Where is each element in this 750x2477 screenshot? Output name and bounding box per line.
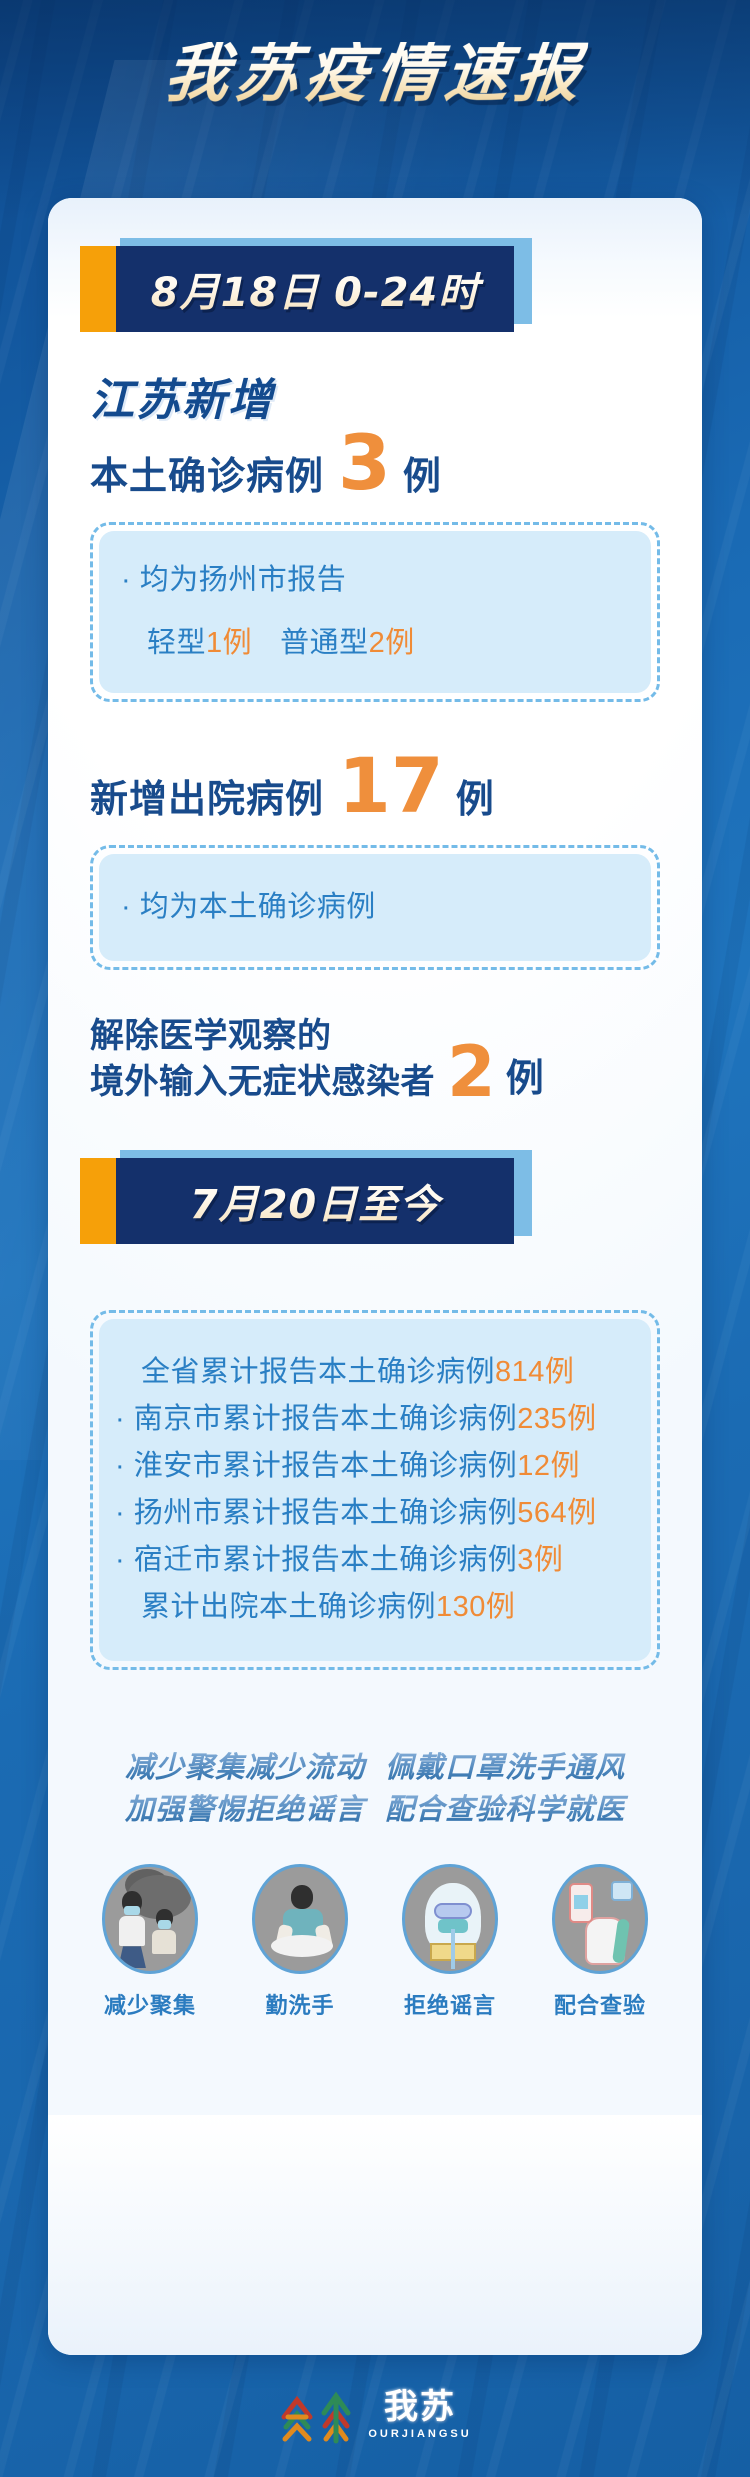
cumulative-list-item: · 南京市累计报告本土确诊病例235例 [115,1396,635,1443]
wosu-logo-mark-icon [278,2383,356,2447]
wash-hands-icon [252,1864,348,1974]
mild-type-label: 轻型 [147,627,206,659]
bullet-dot: · [115,1403,134,1435]
cumulative-item-value: 814例 [495,1356,574,1388]
slogan-1-right: 佩戴口罩洗手通风 [385,1750,625,1784]
cumulative-list-item: 累计出院本土确诊病例130例 [115,1584,635,1631]
reject-rumors-icon [402,1864,498,1974]
cumulative-item-text: 宿迁市累计报告本土确诊病例 [134,1544,518,1576]
cumulative-item-value: 235例 [517,1403,596,1435]
section-new-local-cases: 江苏新增 本土确诊病例 3 例 · 均为扬州市报告 轻型1例普通型2例 [48,332,702,702]
banner-2-orange-tab [80,1158,116,1244]
cumulative-item-text: 扬州市累计报告本土确诊病例 [134,1497,518,1529]
report-card: 8月18日 0-24时 江苏新增 本土确诊病例 3 例 · 均为扬州市报告 轻型… [48,198,702,2355]
cumulative-list-item: 全省累计报告本土确诊病例814例 [115,1349,635,1396]
cumulative-list: 全省累计报告本土确诊病例814例· 南京市累计报告本土确诊病例235例· 淮安市… [115,1349,635,1631]
cumulative-item-value: 564例 [517,1497,596,1529]
section-3-line-a: 解除医学观察的 [90,1014,435,1060]
report-card-inner: 8月18日 0-24时 江苏新增 本土确诊病例 3 例 · 均为扬州市报告 轻型… [48,198,702,2355]
bullet-dot: · [121,891,131,923]
page-title-wrap: 我苏疫情速报 [0,42,750,106]
section-1-stat-label: 本土确诊病例 [90,445,324,500]
cumulative-item-text: 淮安市累计报告本土确诊病例 [134,1450,518,1482]
slogan-2-right: 配合查验科学就医 [385,1792,625,1826]
date-banner-2: 7月20日至今 [80,1158,532,1244]
cumulative-item-value: 130例 [436,1591,515,1623]
icon-label-wash-hands: 勤洗手 [242,1988,358,2020]
section-3-stat-unit: 例 [506,1047,544,1106]
section-2-details-inner: · 均为本土确诊病例 [99,854,651,961]
section-2-details-box: · 均为本土确诊病例 [90,845,660,970]
section-released-observation: 解除医学观察的 境外输入无症状感染者 2 例 [48,970,702,1106]
section-3-text-block: 解除医学观察的 境外输入无症状感染者 [90,1014,435,1106]
section-2-stat-unit: 例 [456,768,494,823]
section-3-line-b: 境外输入无症状感染者 [90,1060,435,1106]
footer-logo-en: OURJIANGSU [368,2428,471,2440]
section-1-detail-line-1: · 均为扬州市报告 [121,557,629,604]
cumulative-item-text: 南京市累计报告本土确诊病例 [134,1403,518,1435]
cumulative-item-text: 全省累计报告本土确诊病例 [141,1356,495,1388]
section-1-details-inner: · 均为扬州市报告 轻型1例普通型2例 [99,531,651,693]
reduce-gathering-icon [102,1864,198,1974]
section-2-detail-line-1: · 均为本土确诊病例 [121,884,629,931]
banner-1-orange-tab [80,246,116,332]
prevention-item-wash-hands: 勤洗手 [242,1864,358,2020]
section-1-stat-line: 本土确诊病例 3 例 [90,429,660,500]
section-3-stat-line: 解除医学观察的 境外输入无症状感染者 2 例 [90,1014,660,1106]
footer-logo-text: 我苏 OURJIANGSU [368,2390,471,2440]
section-2-stat-number: 17 [328,752,452,820]
section-1-stat-number: 3 [328,429,399,497]
common-type-label: 普通型 [280,627,369,659]
prevention-item-reduce-gathering: 减少聚集 [92,1864,208,2020]
section-1-details-box: · 均为扬州市报告 轻型1例普通型2例 [90,522,660,702]
banner-2-label: 7月20日至今 [116,1158,514,1244]
mild-type-value: 1例 [206,627,252,659]
cumulative-list-item: · 扬州市累计报告本土确诊病例564例 [115,1490,635,1537]
bullet-dot: · [115,1544,134,1576]
section-1-detail-line-2: 轻型1例普通型2例 [121,620,629,667]
bullet-dot: · [121,564,131,596]
cumulative-details-inner: 全省累计报告本土确诊病例814例· 南京市累计报告本土确诊病例235例· 淮安市… [99,1319,651,1661]
banner-1-label: 8月18日 0-24时 [116,246,514,332]
cumulative-item-text: 累计出院本土确诊病例 [141,1591,436,1623]
cumulative-item-value: 3例 [517,1544,563,1576]
slogan-row-1: 减少聚集减少流动佩戴口罩洗手通风 [48,1746,702,1788]
slogan-row-2: 加强警惕拒绝谣言配合查验科学就医 [48,1788,702,1830]
footer-logo-cn: 我苏 [384,2390,456,2424]
date-banner-1: 8月18日 0-24时 [80,246,532,332]
section-2-stat-label: 新增出院病例 [90,768,324,823]
cumulative-item-value: 12例 [517,1450,580,1482]
slogan-block: 减少聚集减少流动佩戴口罩洗手通风 加强警惕拒绝谣言配合查验科学就医 [48,1746,702,1831]
cumulative-details-box: 全省累计报告本土确诊病例814例· 南京市累计报告本土确诊病例235例· 淮安市… [90,1310,660,1670]
icon-label-reject-rumors: 拒绝谣言 [392,1988,508,2020]
bullet-dot: · [115,1450,134,1482]
bullet-dot: · [115,1497,134,1529]
prevention-icon-row: 减少聚集 勤洗手 [48,1864,702,2020]
cooperate-inspection-icon [552,1864,648,1974]
page-title: 我苏疫情速报 [162,42,589,106]
section-cumulative-stats: 全省累计报告本土确诊病例814例· 南京市累计报告本土确诊病例235例· 淮安市… [48,1244,702,1670]
slogan-1-left: 减少聚集减少流动 [125,1750,365,1784]
cumulative-list-item: · 宿迁市累计报告本土确诊病例3例 [115,1537,635,1584]
prevention-item-cooperate-inspection: 配合查验 [542,1864,658,2020]
cumulative-list-item: · 淮安市累计报告本土确诊病例12例 [115,1443,635,1490]
icon-label-reduce-gathering: 减少聚集 [92,1988,208,2020]
section-discharged-cases: 新增出院病例 17 例 · 均为本土确诊病例 [48,702,702,970]
icon-label-cooperate-inspection: 配合查验 [542,1988,658,2020]
section-1-stat-unit: 例 [403,445,441,500]
prevention-item-reject-rumors: 拒绝谣言 [392,1864,508,2020]
section-2-stat-line: 新增出院病例 17 例 [90,752,660,823]
footer-logo: 我苏 OURJIANGSU [0,2383,750,2447]
slogan-2-left: 加强警惕拒绝谣言 [125,1792,365,1826]
common-type-value: 2例 [369,627,415,659]
section-1-detail-text-1: 均为扬州市报告 [140,564,347,596]
section-2-detail-text-1: 均为本土确诊病例 [140,891,376,923]
section-3-stat-number: 2 [437,1041,504,1106]
